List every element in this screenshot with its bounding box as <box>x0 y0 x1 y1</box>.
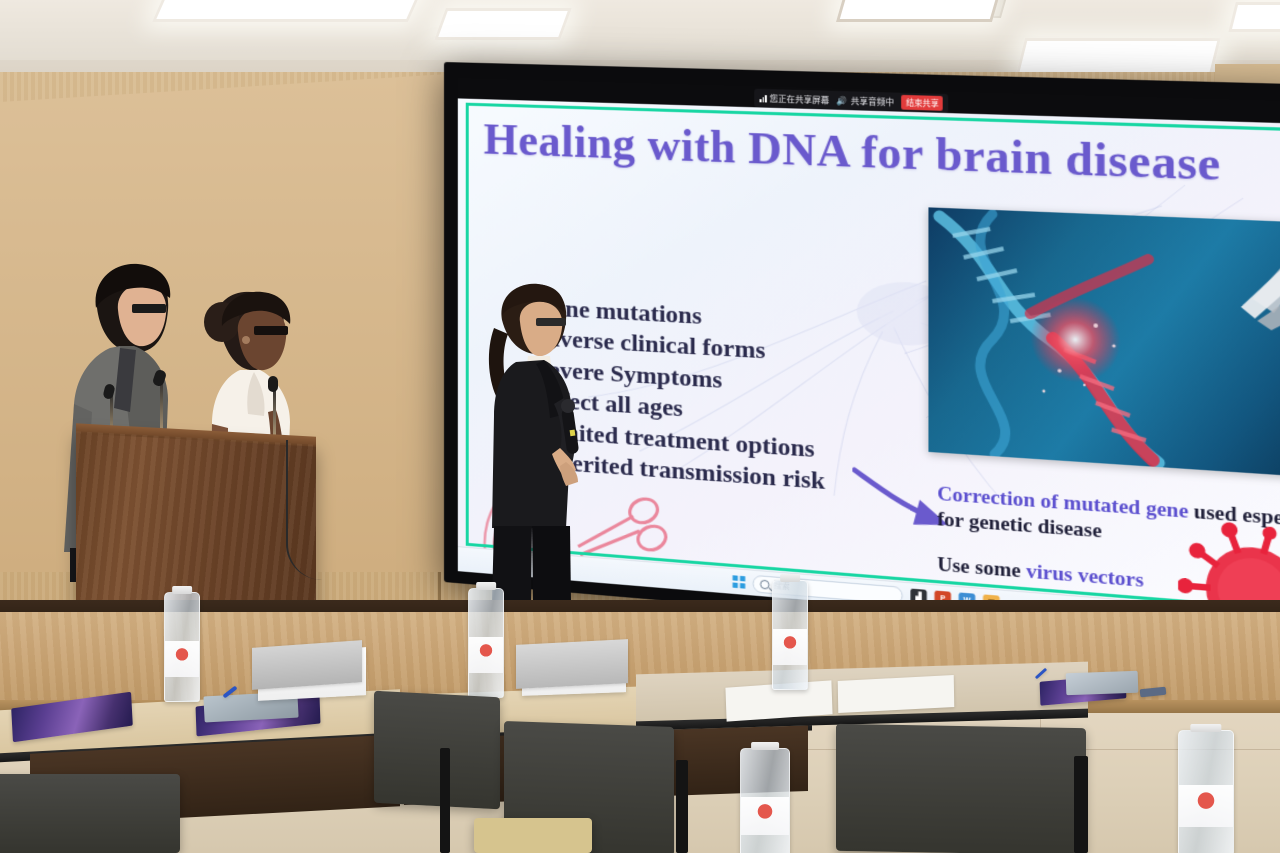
speaker-icon: 🔊 <box>837 96 848 106</box>
laptop <box>516 639 628 689</box>
scissors-hand-icon <box>1171 213 1280 374</box>
ceiling-light <box>1228 2 1280 32</box>
water-bottle <box>772 580 808 690</box>
chair <box>836 724 1086 853</box>
sharing-audio-label: 共享音频中 <box>851 95 894 108</box>
sharing-audio-status: 🔊 共享音频中 <box>837 95 894 108</box>
water-bottle <box>468 588 504 698</box>
laptop <box>252 640 362 690</box>
document-paper <box>838 675 955 713</box>
chair <box>374 691 500 810</box>
chair <box>0 774 180 853</box>
ceiling-light <box>152 0 424 22</box>
end-share-button[interactable]: 结束共享 <box>902 95 944 111</box>
water-bottle <box>164 592 200 702</box>
conference-room-photo: 您正在共享屏幕 🔊 共享音频中 结束共享 <box>0 0 1280 853</box>
sharing-screen-status: 您正在共享屏幕 <box>759 92 829 105</box>
ceiling-light <box>434 8 572 40</box>
notebook <box>1066 671 1139 695</box>
start-button[interactable] <box>733 575 746 588</box>
chair-seat <box>474 818 592 853</box>
dna-gene-editing-photo <box>928 207 1280 479</box>
virus-particle-icon <box>1178 503 1280 615</box>
sharing-screen-label: 您正在共享屏幕 <box>770 93 830 106</box>
chair-frame <box>676 760 688 853</box>
search-icon <box>760 579 770 589</box>
chair-frame <box>1074 756 1088 853</box>
microphone-cable <box>286 440 322 580</box>
signal-bars-icon <box>759 94 766 102</box>
secondary-text-highlight: virus vectors <box>1026 561 1144 593</box>
water-bottle <box>740 748 790 853</box>
podium-microphone <box>268 376 278 392</box>
secondary-text-plain: Use some <box>937 554 1026 583</box>
water-bottle <box>1178 730 1234 853</box>
chair-frame <box>440 748 450 853</box>
ceiling-light <box>836 0 1000 22</box>
